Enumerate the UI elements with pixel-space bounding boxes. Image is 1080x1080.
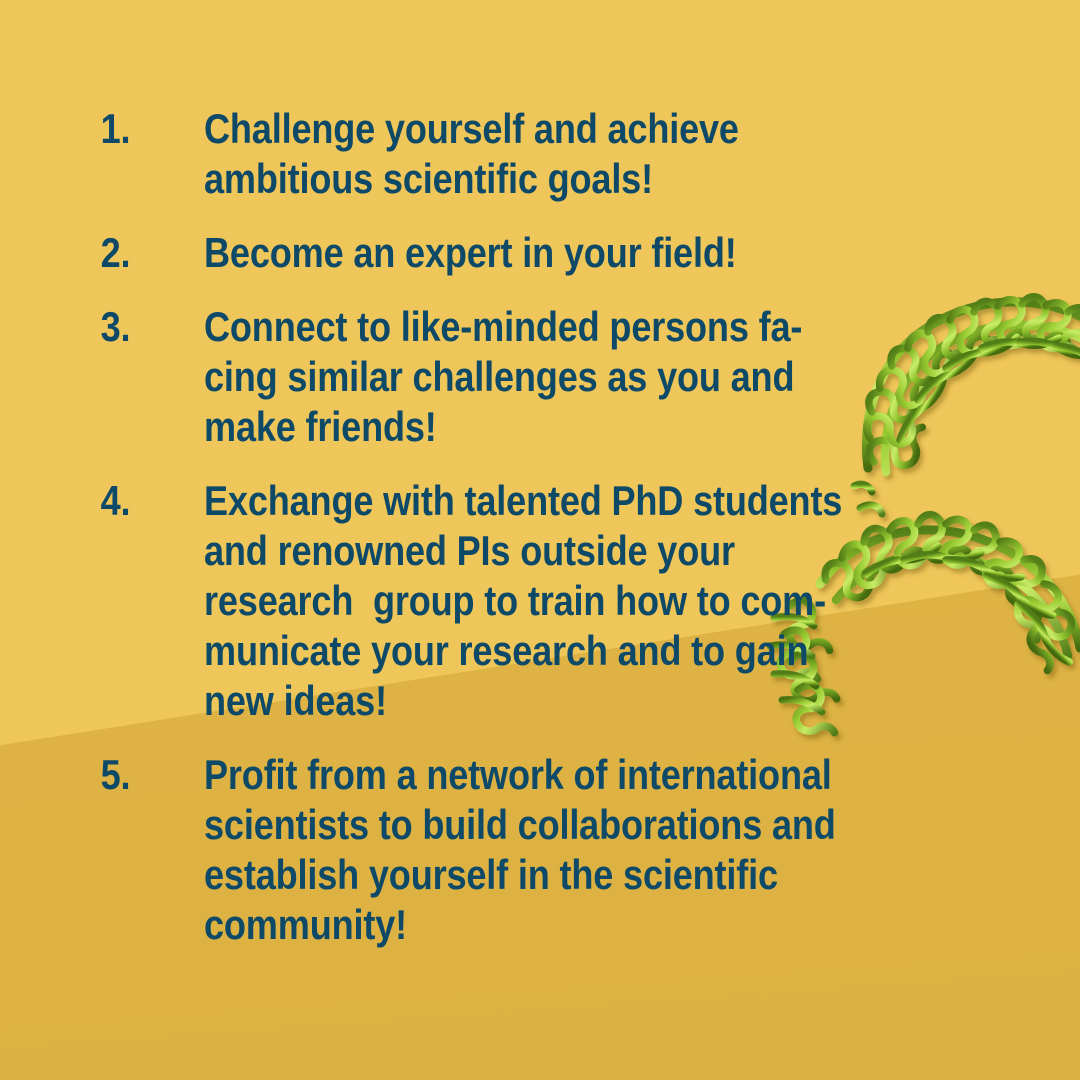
list-item-marker: 1.: [0, 104, 175, 154]
list-item: 4. Exchange with talented PhD students a…: [0, 476, 1080, 726]
list-item-text: Become an expert in your field!: [204, 228, 858, 278]
list-item-text: Exchange with talented PhD students and …: [204, 476, 858, 726]
list-item: 3. Connect to like-minded persons fa- ci…: [0, 302, 1080, 452]
list-item-marker: 2.: [0, 228, 175, 278]
slide-canvas: 1. Challenge yourself and achieve ambiti…: [0, 0, 1080, 1080]
list-item: 1. Challenge yourself and achieve ambiti…: [0, 104, 1080, 204]
list-item: 2. Become an expert in your field!: [0, 228, 1080, 278]
list-item-text: Connect to like-minded persons fa- cing …: [204, 302, 858, 452]
benefits-list: 1. Challenge yourself and achieve ambiti…: [0, 0, 1080, 950]
list-item-text: Profit from a network of international s…: [204, 750, 858, 950]
list-item-marker: 5.: [0, 750, 175, 800]
list-item-text: Challenge yourself and achieve ambitious…: [204, 104, 858, 204]
list-item-marker: 3.: [0, 302, 175, 352]
list-item-marker: 4.: [0, 476, 175, 526]
list-item: 5. Profit from a network of internationa…: [0, 750, 1080, 950]
